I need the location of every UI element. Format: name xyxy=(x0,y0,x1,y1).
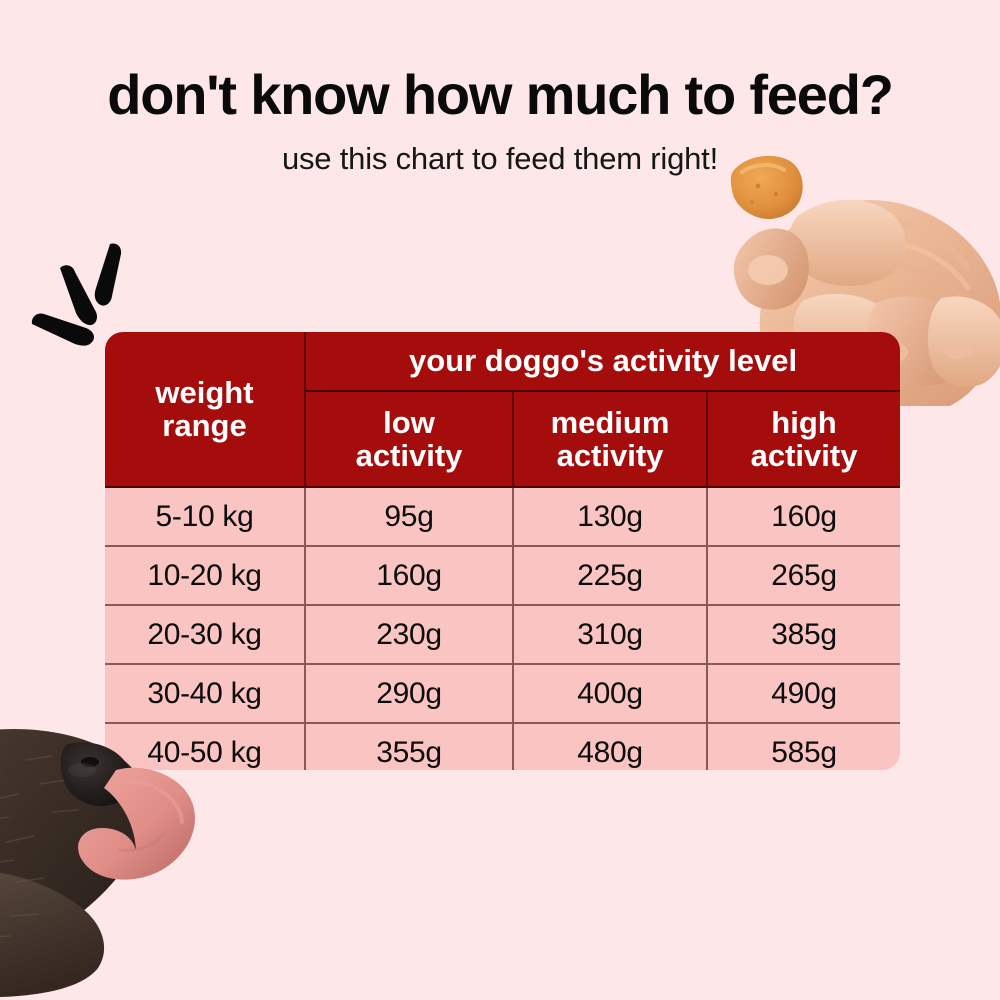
cell-medium: 225g xyxy=(513,546,707,605)
page-title: don't know how much to feed? xyxy=(0,66,1000,125)
table-header: weight range your doggo's activity level… xyxy=(105,332,900,487)
header-weight-range: weight range xyxy=(105,332,305,487)
cell-low: 160g xyxy=(305,546,513,605)
cell-high: 385g xyxy=(707,605,900,664)
header-weight-line2: range xyxy=(105,409,304,442)
cell-low: 290g xyxy=(305,664,513,723)
header-activity-group: your doggo's activity level xyxy=(305,332,900,391)
table-row: 20-30 kg 230g 310g 385g xyxy=(105,605,900,664)
dog-muzzle-licking-photo xyxy=(0,700,246,1000)
header-high-line1: high xyxy=(708,406,900,439)
cell-weight: 5-10 kg xyxy=(105,487,305,546)
page-subtitle: use this chart to feed them right! xyxy=(0,140,1000,177)
header-row-group: weight range your doggo's activity level xyxy=(105,332,900,391)
header-medium-activity: medium activity xyxy=(513,391,707,487)
cell-high: 265g xyxy=(707,546,900,605)
cell-high: 585g xyxy=(707,723,900,770)
header-low-line1: low xyxy=(306,406,512,439)
cell-weight: 20-30 kg xyxy=(105,605,305,664)
header-low-line2: activity xyxy=(306,439,512,472)
cell-high: 490g xyxy=(707,664,900,723)
header-weight-line1: weight xyxy=(105,376,304,409)
cell-weight: 10-20 kg xyxy=(105,546,305,605)
table-row: 10-20 kg 160g 225g 265g xyxy=(105,546,900,605)
header-high-activity: high activity xyxy=(707,391,900,487)
header-high-line2: activity xyxy=(708,439,900,472)
header-medium-line2: activity xyxy=(514,439,706,472)
infographic-canvas: don't know how much to feed? use this ch… xyxy=(0,0,1000,1000)
cell-low: 95g xyxy=(305,487,513,546)
header-medium-line1: medium xyxy=(514,406,706,439)
cell-low: 355g xyxy=(305,723,513,770)
cell-medium: 310g xyxy=(513,605,707,664)
cell-high: 160g xyxy=(707,487,900,546)
cell-medium: 480g xyxy=(513,723,707,770)
cell-medium: 400g xyxy=(513,664,707,723)
table-row: 5-10 kg 95g 130g 160g xyxy=(105,487,900,546)
header-low-activity: low activity xyxy=(305,391,513,487)
cell-medium: 130g xyxy=(513,487,707,546)
cell-low: 230g xyxy=(305,605,513,664)
